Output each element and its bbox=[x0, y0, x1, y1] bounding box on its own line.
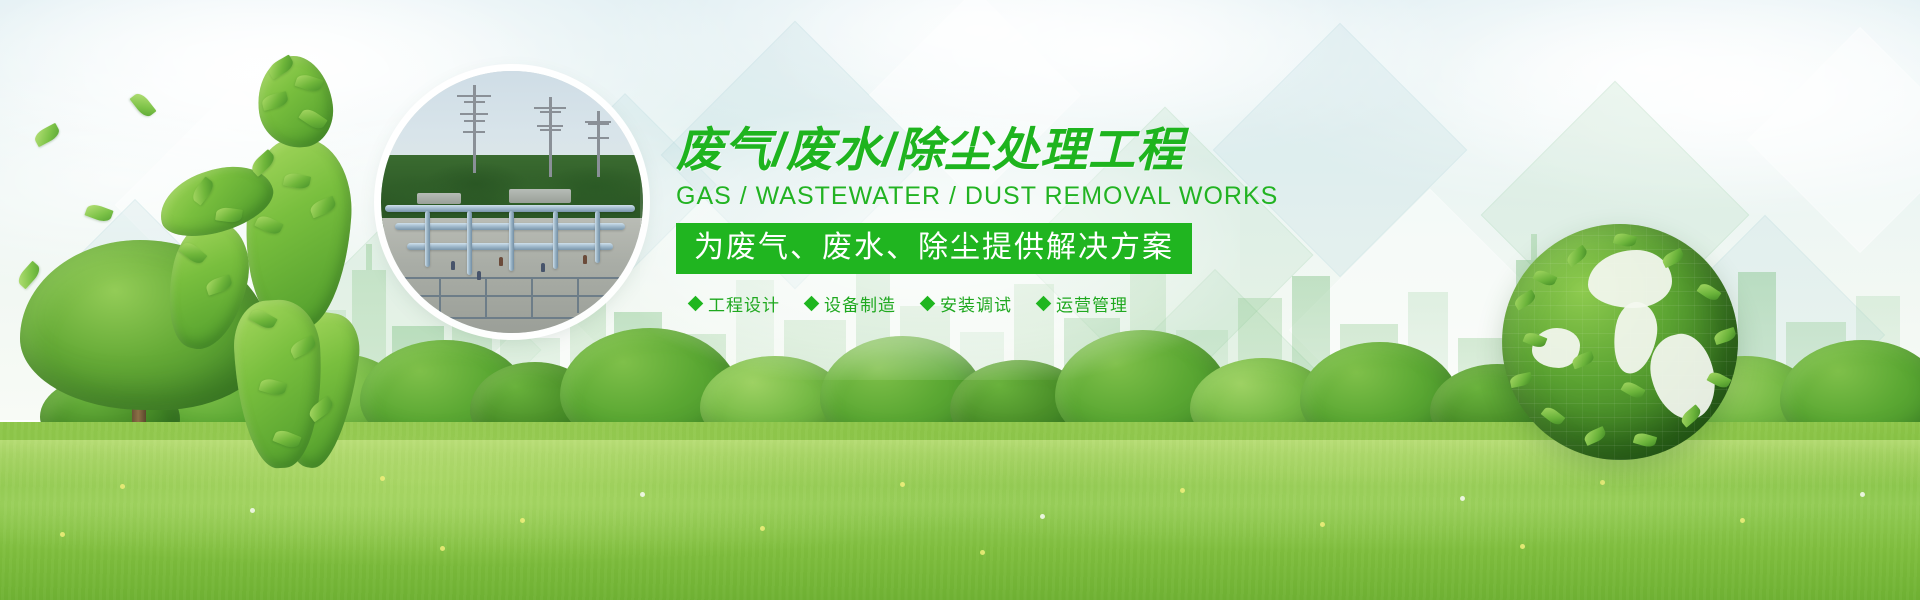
diamond-bullet-icon bbox=[688, 296, 704, 312]
process-tank bbox=[509, 189, 571, 203]
slogan-text: 为废气、废水、除尘提供解决方案 bbox=[694, 231, 1174, 264]
process-tank bbox=[417, 193, 461, 204]
globe-leaf-texture bbox=[1502, 224, 1738, 460]
feature-item-equipment-manufacturing[interactable]: 设备制造 bbox=[806, 291, 896, 316]
transmission-tower bbox=[473, 85, 476, 173]
green-leaf-globe bbox=[1502, 224, 1738, 460]
wastewater-plant-photo bbox=[381, 71, 643, 333]
feature-item-operation-management[interactable]: 运营管理 bbox=[1038, 291, 1128, 316]
eco-environmental-banner: 废气/废水/除尘处理工程 GAS / WASTEWATER / DUST REM… bbox=[0, 0, 1920, 600]
feature-item-engineering-design[interactable]: 工程设计 bbox=[690, 291, 780, 316]
feature-item-installation-commissioning[interactable]: 安装调试 bbox=[922, 291, 1012, 316]
feature-label: 工程设计 bbox=[708, 291, 780, 316]
diamond-bullet-icon bbox=[1036, 296, 1052, 312]
diamond-bullet-icon bbox=[804, 296, 820, 312]
slogan-banner: 为废气、废水、除尘提供解决方案 bbox=[676, 223, 1192, 275]
feature-list: 工程设计 设备制造 安装调试 运营管理 bbox=[676, 291, 1196, 316]
feature-label: 安装调试 bbox=[940, 291, 1012, 316]
banner-copy: 废气/废水/除尘处理工程 GAS / WASTEWATER / DUST REM… bbox=[676, 126, 1196, 316]
page-title: 废气/废水/除尘处理工程 bbox=[676, 126, 1196, 175]
diamond-bullet-icon bbox=[920, 296, 936, 312]
leaf-man-figure bbox=[150, 50, 380, 470]
page-subtitle-english: GAS / WASTEWATER / DUST REMOVAL WORKS bbox=[676, 182, 1196, 211]
transmission-tower bbox=[549, 97, 552, 177]
feature-label: 运营管理 bbox=[1056, 291, 1128, 316]
feature-label: 设备制造 bbox=[824, 291, 896, 316]
